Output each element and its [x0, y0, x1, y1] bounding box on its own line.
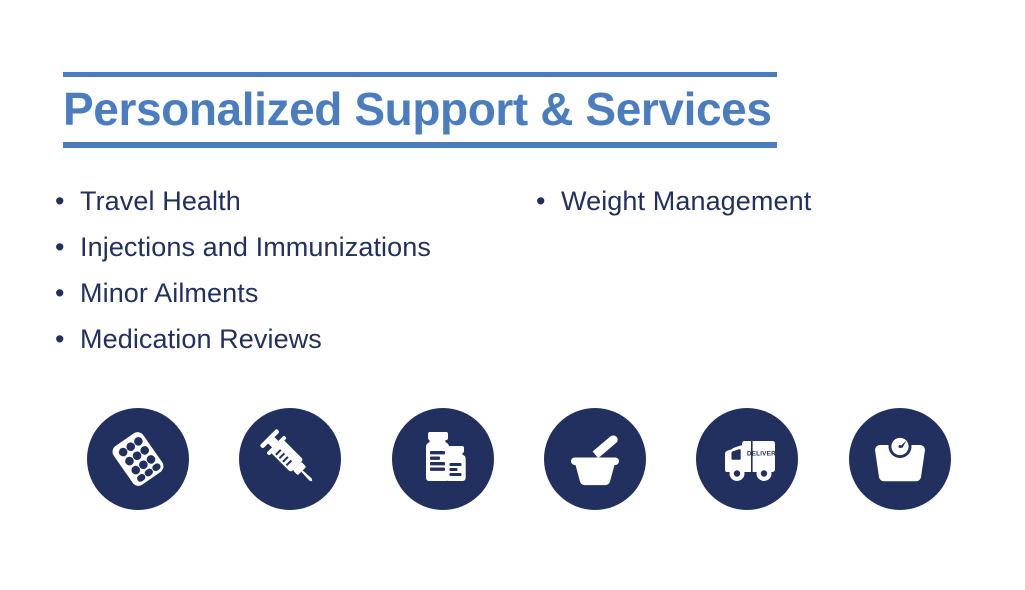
list-item: • Travel Health [55, 178, 431, 224]
bullet-icon: • [55, 270, 80, 316]
list-item-label: Minor Ailments [80, 270, 258, 316]
list-item-label: Travel Health [80, 178, 241, 224]
delivery-truck-text: DELIVERY [747, 451, 781, 458]
bullet-icon: • [55, 224, 80, 270]
weight-scale-icon [849, 408, 951, 510]
list-item: • Injections and Immunizations [55, 224, 431, 270]
list-item: • Medication Reviews [55, 316, 431, 362]
bullet-icon: • [55, 316, 80, 362]
list-item: • Minor Ailments [55, 270, 431, 316]
blister-pack-icon [87, 408, 189, 510]
title-rule-bottom [63, 142, 777, 148]
services-column-right: • Weight Management [536, 178, 811, 224]
syringe-icon [239, 408, 341, 510]
services-list-group: • Travel Health • Injections and Immuniz… [55, 178, 970, 368]
medicine-bottles-icon [392, 408, 494, 510]
mortar-and-pestle-icon [544, 408, 646, 510]
delivery-truck-icon: DELIVERY [696, 408, 798, 510]
page-title: Personalized Support & Services [63, 77, 777, 142]
list-item-label: Medication Reviews [80, 316, 322, 362]
list-item: • Weight Management [536, 178, 811, 224]
bullet-icon: • [55, 178, 80, 224]
services-column-left: • Travel Health • Injections and Immuniz… [55, 178, 431, 362]
icon-row: DELIVERY [87, 408, 953, 512]
bullet-icon: • [536, 178, 561, 224]
list-item-label: Injections and Immunizations [80, 224, 431, 270]
list-item-label: Weight Management [561, 178, 811, 224]
title-block: Personalized Support & Services [63, 72, 777, 148]
